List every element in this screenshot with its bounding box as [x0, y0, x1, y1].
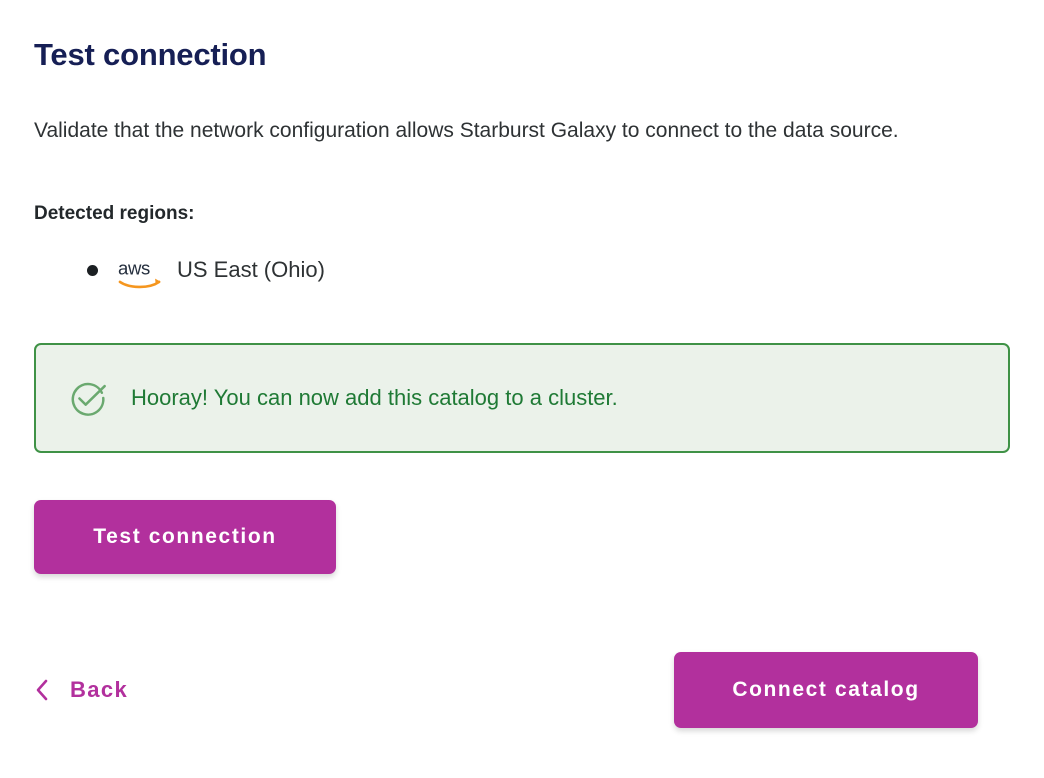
status-banner-success: Hooray! You can now add this catalog to … — [34, 343, 1010, 453]
chevron-left-icon — [34, 678, 50, 702]
list-item: aws US East (Ohio) — [34, 252, 325, 288]
page-description: Validate that the network configuration … — [34, 107, 994, 155]
test-connection-page: Test connection Validate that the networ… — [0, 0, 1044, 778]
check-circle-icon — [67, 377, 109, 419]
detected-regions-list: aws US East (Ohio) — [34, 252, 325, 288]
status-banner-message: Hooray! You can now add this catalog to … — [131, 383, 618, 413]
detected-regions-label: Detected regions: — [34, 200, 194, 228]
aws-logo-icon: aws — [118, 254, 171, 290]
back-button[interactable]: Back — [34, 671, 128, 709]
svg-text:aws: aws — [118, 258, 150, 279]
bullet-icon — [87, 265, 98, 276]
region-name: US East (Ohio) — [177, 253, 325, 287]
connect-catalog-button[interactable]: Connect catalog — [674, 652, 978, 728]
back-button-label: Back — [70, 677, 128, 703]
test-connection-button[interactable]: Test connection — [34, 500, 336, 574]
page-title: Test connection — [34, 35, 266, 75]
